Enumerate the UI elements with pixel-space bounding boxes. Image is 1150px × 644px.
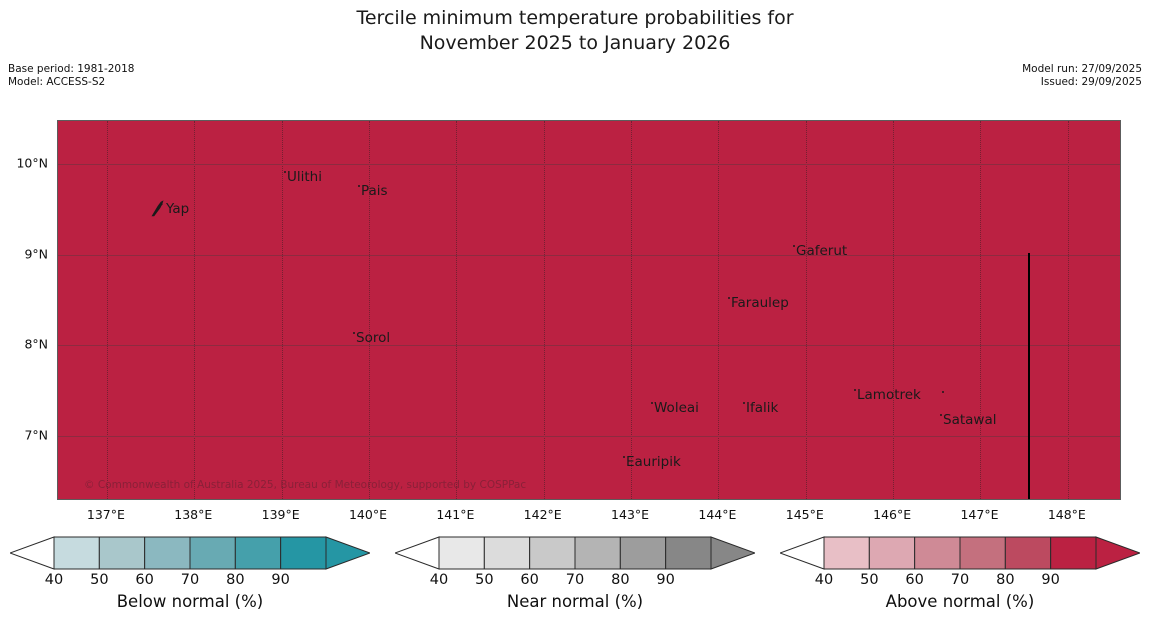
- colorbar-segment: [190, 537, 235, 569]
- colorbar-tick-label: 70: [951, 572, 969, 588]
- yap-island-shape: [149, 199, 167, 219]
- colorbar-segment: [530, 537, 575, 569]
- colorbar-segment: [281, 537, 326, 569]
- place-name-text: Satawal: [943, 412, 996, 428]
- colorbar-tick-label: 90: [1041, 572, 1059, 588]
- gridline-vertical: [631, 121, 632, 499]
- colorbar-tick-label: 60: [905, 572, 923, 588]
- copyright-text: © Commonwealth of Australia 2025, Bureau…: [84, 479, 526, 491]
- colorbar-axis-label: Near normal (%): [395, 592, 755, 611]
- colorbar-tick-label: 70: [566, 572, 584, 588]
- y-axis-tick-text: 9°N: [24, 246, 48, 261]
- y-axis-tick-text: 7°N: [24, 427, 48, 442]
- map-place-label: Pais: [358, 183, 388, 199]
- map-place-label: Yap: [166, 201, 189, 217]
- colorbar-segment: [915, 537, 960, 569]
- colorbar-segment: [54, 537, 99, 569]
- gridline-vertical: [194, 121, 195, 499]
- gridline-vertical: [369, 121, 370, 499]
- colorbar-tick-row: 405060708090: [780, 572, 1140, 594]
- meridian-marker-line: [1028, 253, 1030, 499]
- colorbar-tick-label: 50: [475, 572, 493, 588]
- place-marker-dot: [743, 402, 745, 404]
- gridline-vertical: [456, 121, 457, 499]
- map-place-label: Ifalik: [743, 400, 778, 416]
- place-marker-dot: [728, 297, 730, 299]
- colorbar-tick-label: 40: [815, 572, 833, 588]
- colorbar-tick-label: 90: [271, 572, 289, 588]
- colorbar-over-arrow: [1096, 537, 1140, 569]
- colorbar-under-arrow: [395, 537, 439, 569]
- colorbar-above-normal: 405060708090Above normal (%): [780, 536, 1140, 636]
- colorbar-segment: [824, 537, 869, 569]
- map-place-label: Eauripik: [623, 454, 681, 470]
- base-period-text: Base period: 1981-2018: [8, 63, 134, 76]
- colorbar-swatches: [780, 536, 1140, 570]
- y-axis-tick-label: 10°N: [48, 156, 80, 171]
- place-marker-dot: [353, 332, 355, 334]
- colorbar-tick-label: 90: [656, 572, 674, 588]
- gridline-vertical: [282, 121, 283, 499]
- x-axis-tick-label: 147°E: [960, 507, 998, 522]
- gridline-vertical: [806, 121, 807, 499]
- place-name-text: Lamotrek: [857, 387, 921, 403]
- gridline-vertical: [1068, 121, 1069, 499]
- y-axis-tick-label: 7°N: [48, 427, 72, 442]
- place-name-text: Woleai: [654, 400, 699, 416]
- colorbar-tick-label: 60: [135, 572, 153, 588]
- gridline-horizontal: [58, 345, 1120, 346]
- colorbar-segment: [99, 537, 144, 569]
- x-axis-tick-label: 144°E: [698, 507, 736, 522]
- place-marker-dot: [793, 245, 795, 247]
- x-axis-tick-label: 138°E: [174, 507, 212, 522]
- colorbar-segment: [484, 537, 529, 569]
- title-line-2: November 2025 to January 2026: [0, 31, 1150, 56]
- x-axis-tick-label: 137°E: [87, 507, 125, 522]
- issued-text: Issued: 29/09/2025: [1022, 76, 1142, 89]
- colorbar-segment: [145, 537, 190, 569]
- colorbar-segment: [620, 537, 665, 569]
- gridline-vertical: [107, 121, 108, 499]
- map-place-label: Satawal: [940, 412, 996, 428]
- colorbar-tick-row: 405060708090: [395, 572, 755, 594]
- colorbar-tick-label: 50: [90, 572, 108, 588]
- x-axis-tick-label: 143°E: [611, 507, 649, 522]
- colorbar-tick-label: 70: [181, 572, 199, 588]
- colorbar-tick-label: 50: [860, 572, 878, 588]
- map-plot-area[interactable]: YapUlithiPaisGaferutFaraulepSorolWoleaiI…: [57, 120, 1121, 500]
- colorbar-tick-label: 80: [611, 572, 629, 588]
- place-marker-dot: [651, 402, 653, 404]
- place-name-text: Gaferut: [796, 243, 847, 259]
- colorbar-tick-label: 80: [226, 572, 244, 588]
- map-place-label: Gaferut: [793, 243, 847, 259]
- model-text: Model: ACCESS-S2: [8, 76, 134, 89]
- model-run-text: Model run: 27/09/2025: [1022, 63, 1142, 76]
- y-axis-tick-text: 10°N: [16, 156, 48, 171]
- place-marker-dot: [854, 389, 856, 391]
- metadata-left: Base period: 1981-2018 Model: ACCESS-S2: [8, 63, 134, 89]
- place-name-text: Sorol: [356, 330, 390, 346]
- gridline-vertical: [718, 121, 719, 499]
- map-place-label: Ulithi: [284, 169, 322, 185]
- gridline-vertical: [980, 121, 981, 499]
- place-name-text: Yap: [166, 201, 189, 217]
- colorbar-over-arrow: [326, 537, 370, 569]
- colorbar-tick-label: 40: [45, 572, 63, 588]
- colorbar-segment: [960, 537, 1005, 569]
- metadata-right: Model run: 27/09/2025 Issued: 29/09/2025: [1022, 63, 1142, 89]
- gridline-vertical: [893, 121, 894, 499]
- gridline-horizontal: [58, 255, 1120, 256]
- colorbar-swatches: [395, 536, 755, 570]
- gridline-vertical: [544, 121, 545, 499]
- x-axis-tick-label: 142°E: [524, 507, 562, 522]
- place-name-text: Ulithi: [287, 169, 322, 185]
- map-place-label: Faraulep: [728, 295, 789, 311]
- colorbar-segment: [235, 537, 280, 569]
- place-name-text: Ifalik: [746, 400, 778, 416]
- y-axis-tick-text: 8°N: [24, 337, 48, 352]
- x-axis-tick-label: 148°E: [1048, 507, 1086, 522]
- colorbar-swatches: [10, 536, 370, 570]
- colorbar-tick-row: 405060708090: [10, 572, 370, 594]
- colorbar-under-arrow: [780, 537, 824, 569]
- gridline-horizontal: [58, 436, 1120, 437]
- colorbar-segment: [1005, 537, 1050, 569]
- colorbar-segment: [666, 537, 711, 569]
- colorbar-tick-label: 60: [520, 572, 538, 588]
- map-place-label: Sorol: [353, 330, 390, 346]
- colorbar-over-arrow: [711, 537, 755, 569]
- colorbar-near-normal: 405060708090Near normal (%): [395, 536, 755, 636]
- place-name-text: Eauripik: [626, 454, 681, 470]
- x-axis-tick-label: 140°E: [349, 507, 387, 522]
- colorbar-bar: [395, 536, 755, 572]
- place-marker-dot: [284, 171, 286, 173]
- colorbar-below-normal: 405060708090Below normal (%): [10, 536, 370, 636]
- colorbar-segment: [869, 537, 914, 569]
- place-marker-dot: [942, 389, 945, 405]
- map-place-label: Lamotrek: [854, 387, 921, 403]
- place-name-text: Pais: [361, 183, 388, 199]
- colorbar-segment: [439, 537, 484, 569]
- colorbar-bar: [10, 536, 370, 572]
- colorbar-under-arrow: [10, 537, 54, 569]
- colorbar-bar: [780, 536, 1140, 572]
- colorbar-segment: [1051, 537, 1096, 569]
- x-axis-tick-label: 139°E: [262, 507, 300, 522]
- colorbar-segment: [575, 537, 620, 569]
- y-axis-tick-label: 9°N: [48, 246, 72, 261]
- x-axis-tick-label: 145°E: [786, 507, 824, 522]
- map-place-label: Woleai: [651, 400, 699, 416]
- title-line-1: Tercile minimum temperature probabilitie…: [0, 6, 1150, 31]
- colorbar-axis-label: Below normal (%): [10, 592, 370, 611]
- colorbar-tick-label: 40: [430, 572, 448, 588]
- place-marker-dot: [940, 414, 942, 416]
- y-axis-tick-label: 8°N: [48, 337, 72, 352]
- x-axis-tick-label: 146°E: [873, 507, 911, 522]
- colorbar-tick-label: 80: [996, 572, 1014, 588]
- gridline-horizontal: [58, 164, 1120, 165]
- place-marker-dot: [623, 456, 625, 458]
- x-axis-tick-label: 141°E: [436, 507, 474, 522]
- place-name-text: Faraulep: [731, 295, 789, 311]
- colorbar-axis-label: Above normal (%): [780, 592, 1140, 611]
- place-marker-dot: [358, 185, 360, 187]
- page-title: Tercile minimum temperature probabilitie…: [0, 6, 1150, 56]
